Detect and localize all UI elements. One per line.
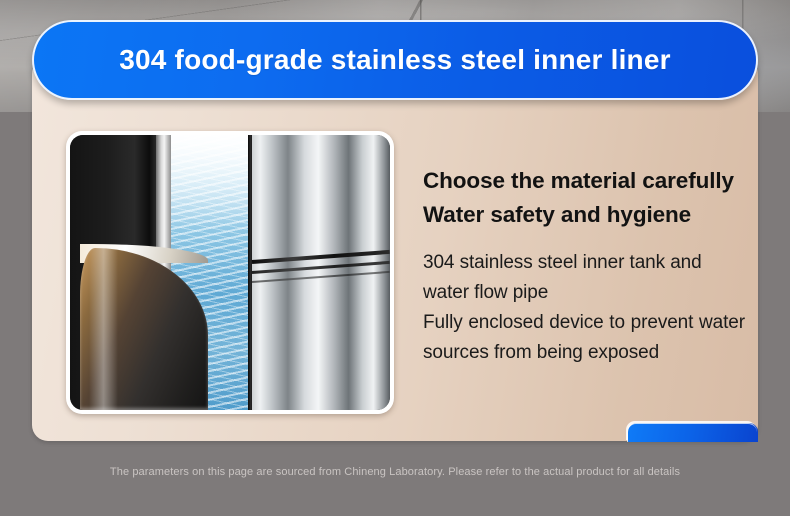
- card-bottom-accent-tab: [628, 423, 758, 442]
- footer: The parameters on this page are sourced …: [0, 462, 790, 480]
- copy-block: Choose the material carefully Water safe…: [423, 164, 745, 368]
- headline-line-1: Choose the material carefully: [423, 164, 745, 198]
- body-copy: 304 stainless steel inner tank and water…: [423, 248, 745, 368]
- headline: Choose the material carefully Water safe…: [423, 164, 745, 232]
- footer-disclaimer: The parameters on this page are sourced …: [110, 466, 680, 478]
- photo-gloss-reflection: [89, 248, 118, 410]
- product-photo-frame: [66, 131, 394, 414]
- product-photo: [70, 135, 390, 410]
- page-title: 304 food-grade stainless steel inner lin…: [119, 46, 670, 74]
- infographic-slide: 304 food-grade stainless steel inner lin…: [0, 0, 790, 516]
- body-paragraph-2: Fully enclosed device to prevent water s…: [423, 308, 745, 368]
- header-banner: 304 food-grade stainless steel inner lin…: [32, 20, 758, 100]
- body-paragraph-1: 304 stainless steel inner tank and water…: [423, 248, 745, 308]
- headline-line-2: Water safety and hygiene: [423, 198, 745, 232]
